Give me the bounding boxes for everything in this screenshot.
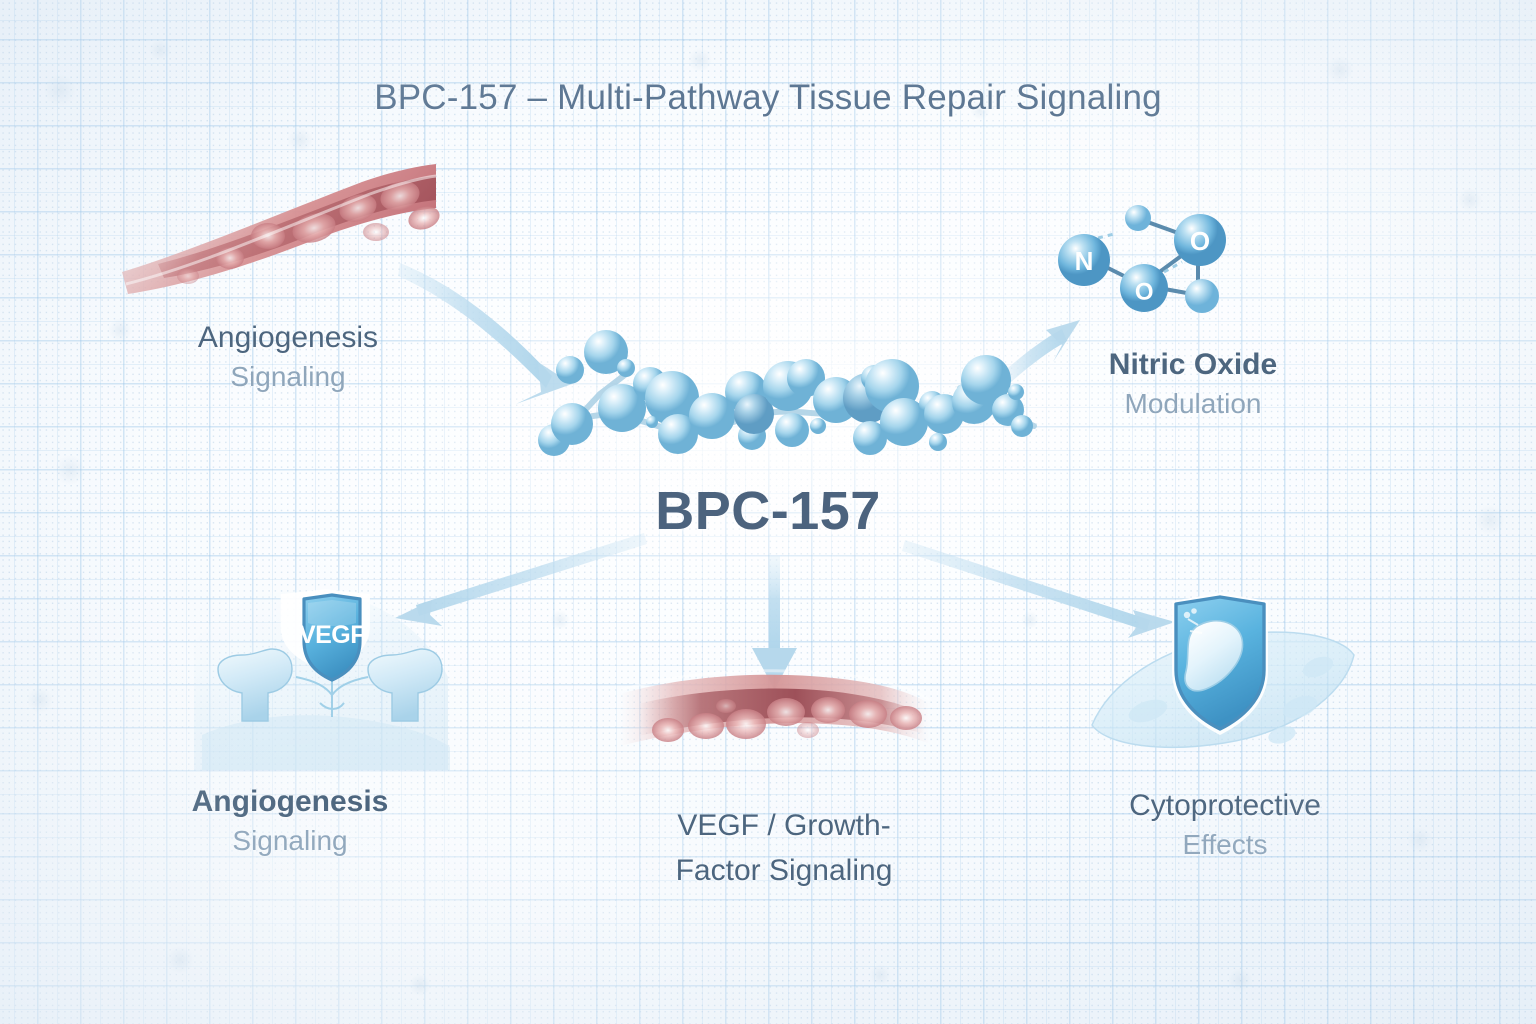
infographic-canvas: N O O <box>0 0 1536 1024</box>
background-vignette <box>0 0 1536 1024</box>
